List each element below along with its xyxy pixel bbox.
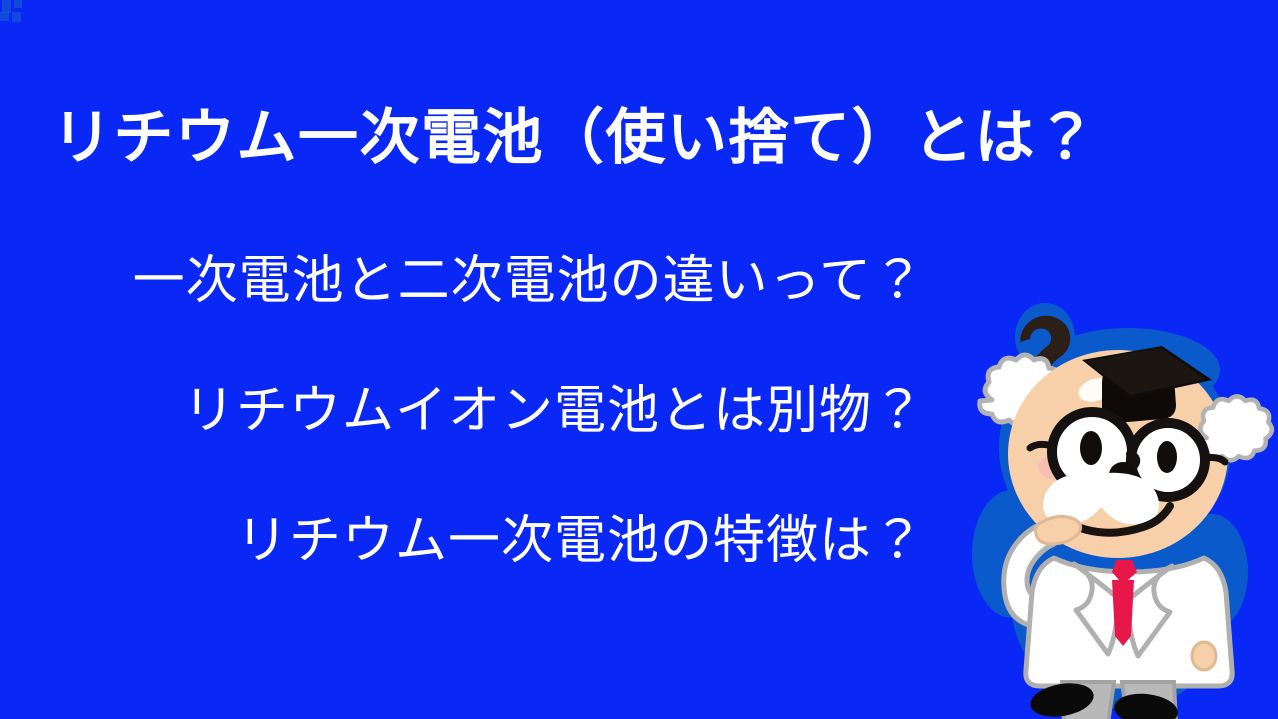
question-list: 一次電池と二次電池の違いって？ リチウムイオン電池とは別物？ リチウム一次電池の… [0,255,925,567]
question-line-1: 一次電池と二次電池の違いって？ [0,255,925,307]
slide-canvas: リチウム一次電池（使い捨て）とは？ 一次電池と二次電池の違いって？ リチウムイオ… [0,0,1278,719]
professor-illustration [950,282,1278,719]
compression-artifact [14,0,22,8]
compression-artifact [12,12,21,22]
right-hand [1192,642,1216,670]
question-line-2: リチウムイオン電池とは別物？ [0,385,925,437]
slide-title: リチウム一次電池（使い捨て）とは？ [52,103,1098,172]
question-line-3: リチウム一次電池の特徴は？ [0,515,925,567]
compression-artifact [2,0,11,13]
compression-artifact [0,12,9,21]
